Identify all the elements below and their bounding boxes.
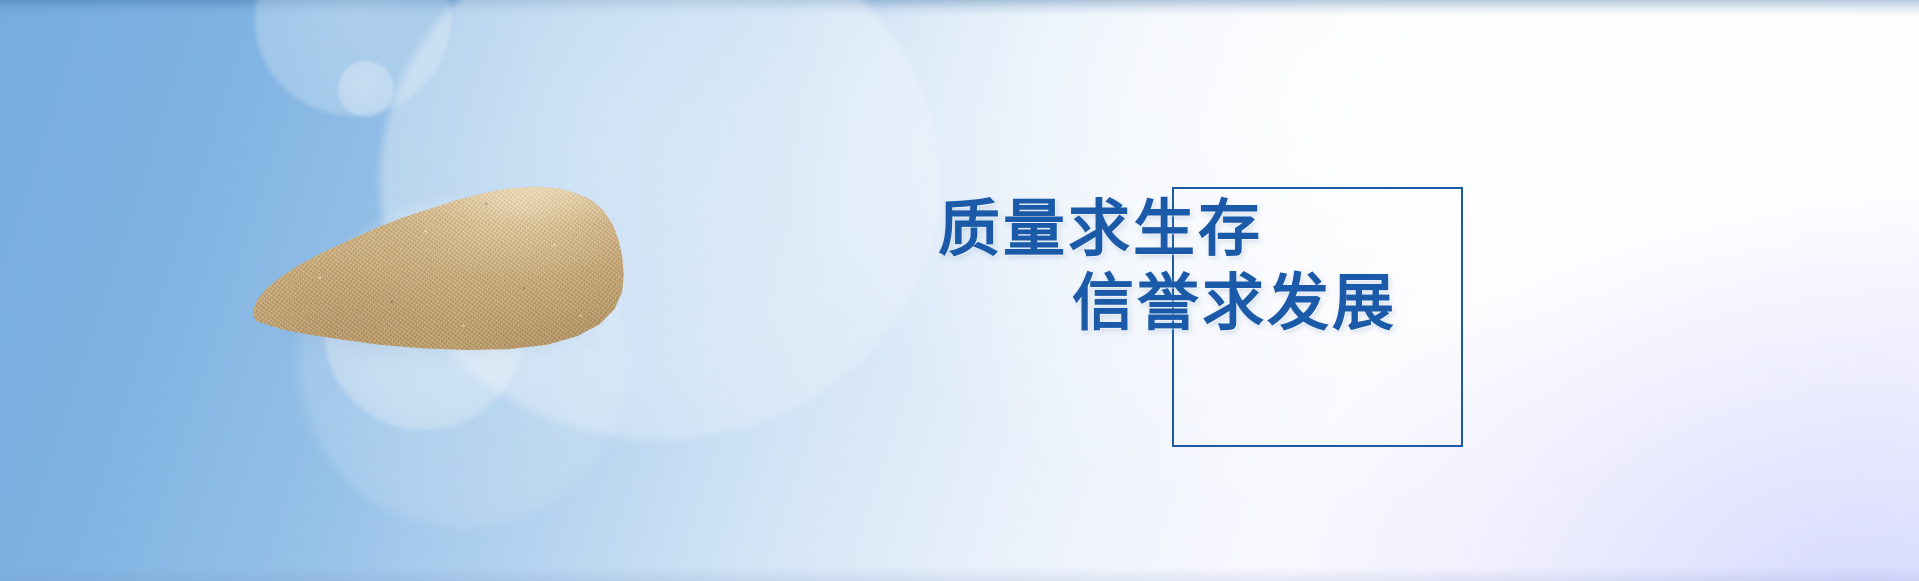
sand-pile-image xyxy=(248,178,626,350)
sand-pile-body xyxy=(248,178,626,350)
background-bottom-vignette xyxy=(0,567,1919,581)
background-top-vignette xyxy=(0,0,1919,16)
hero-banner: 质量求生存 信誉求发展 xyxy=(0,0,1919,581)
